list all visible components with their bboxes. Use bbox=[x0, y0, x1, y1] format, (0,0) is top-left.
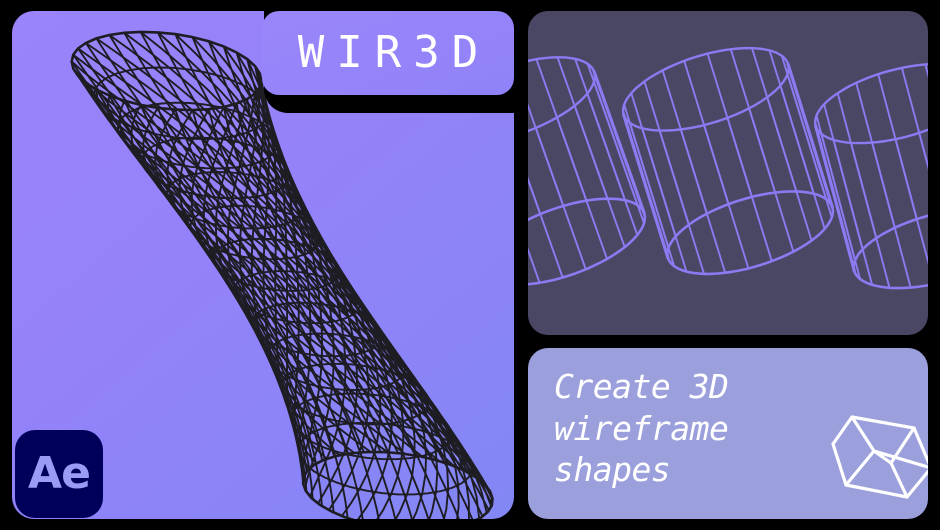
caption-text: Create 3D wireframe shapes bbox=[554, 366, 824, 491]
screenshot-canvas: WIR3D Ae Create 3D wireframe shapes bbox=[0, 0, 940, 530]
wireframe-cube-icon bbox=[828, 406, 928, 506]
caption-panel[interactable]: Create 3D wireframe shapes bbox=[528, 348, 928, 519]
after-effects-logo-label: Ae bbox=[28, 452, 90, 496]
brand-badge[interactable]: WIR3D bbox=[262, 11, 514, 95]
cylinder-wireframe-graphic bbox=[528, 11, 928, 335]
after-effects-logo[interactable]: Ae bbox=[15, 430, 103, 518]
wireframe-cube-glyph bbox=[828, 406, 928, 506]
cylinder-wireframe-panel[interactable] bbox=[528, 11, 928, 335]
page-title: WIR3D bbox=[286, 31, 490, 75]
